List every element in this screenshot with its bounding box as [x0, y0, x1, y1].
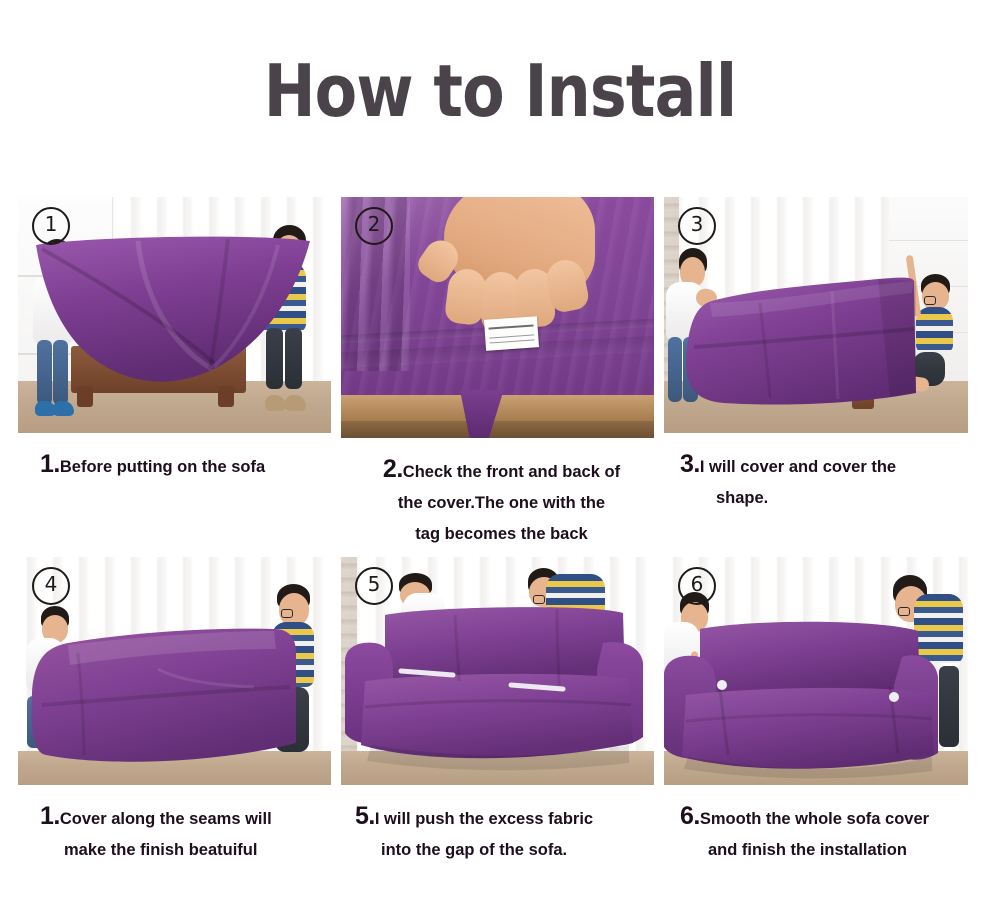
step-card-2: 2 2.Check the front and back of the cove…	[341, 197, 654, 557]
step-badge-4: 4	[32, 567, 70, 605]
step-text-2-line-3: tag becomes the back	[415, 525, 587, 543]
steps-grid: 1 1.Before putting on the sofa	[18, 197, 968, 897]
step-caption-2: 2.Check the front and back of the cover.…	[341, 438, 654, 550]
step-text-5-line-1: I will push the excess fabric	[375, 810, 593, 828]
step-text-4-line-1: Cover along the seams will	[60, 810, 272, 828]
step-photo-3: 3	[664, 197, 968, 433]
step-text-3-line-2: shape.	[680, 483, 768, 514]
step-text-3-line-1: I will cover and cover the	[700, 458, 896, 476]
step-photo-1: 1	[18, 197, 331, 433]
step-number-2: 2.	[383, 455, 403, 483]
step-badge-5: 5	[355, 567, 393, 605]
step-caption-6: 6.Smooth the whole sofa cover and finish…	[664, 785, 968, 866]
step-text-6-line-2: and finish the installation	[680, 835, 907, 866]
step-text-1-line-1: Before putting on the sofa	[60, 458, 265, 476]
step-text-2-line-1: Check the front and back of	[403, 463, 620, 481]
step-caption-3: 3.I will cover and cover the shape.	[664, 433, 968, 514]
step-number-5: 5.	[355, 802, 375, 830]
step-photo-2: 2	[341, 197, 654, 438]
step-text-2-line-2: the cover.The one with the	[398, 494, 605, 512]
step-badge-2: 2	[355, 207, 393, 245]
step-card-3: 3 3.I will cover and cover the shape.	[664, 197, 968, 557]
how-to-install-infographic: How to Install	[0, 0, 1000, 897]
step-text-5-line-2: into the gap of the sofa.	[355, 835, 567, 866]
step-caption-1: 1.Before putting on the sofa	[18, 433, 331, 483]
step-card-5: 5 5.I will push the excess fabric into t…	[341, 557, 654, 897]
step-badge-6: 6	[678, 567, 716, 605]
step-text-6-line-1: Smooth the whole sofa cover	[700, 810, 929, 828]
step-badge-3: 3	[678, 207, 716, 245]
step-card-1: 1 1.Before putting on the sofa	[18, 197, 331, 557]
step-card-4: 4 1.Cover along the seams will make the …	[18, 557, 331, 897]
step-number-3: 3.	[680, 450, 700, 478]
step-text-4-line-2: make the finish beatuiful	[40, 835, 257, 866]
step-card-6: 6 6.Smooth the whole sofa cover and fini…	[664, 557, 968, 897]
step-photo-4: 4	[18, 557, 331, 785]
step-photo-5: 5	[341, 557, 654, 785]
step-caption-4: 1.Cover along the seams will make the fi…	[18, 785, 331, 866]
steps-row-top: 1 1.Before putting on the sofa	[18, 197, 968, 557]
step-number-6: 6.	[680, 802, 700, 830]
page-title: How to Install	[70, 52, 930, 130]
step-badge-1: 1	[32, 207, 70, 245]
steps-row-bottom: 4 1.Cover along the seams will make the …	[18, 557, 968, 897]
step-number-1: 1.	[40, 450, 60, 478]
step-caption-5: 5.I will push the excess fabric into the…	[341, 785, 654, 866]
step-photo-6: 6	[664, 557, 968, 785]
step-number-4: 1.	[40, 802, 60, 830]
